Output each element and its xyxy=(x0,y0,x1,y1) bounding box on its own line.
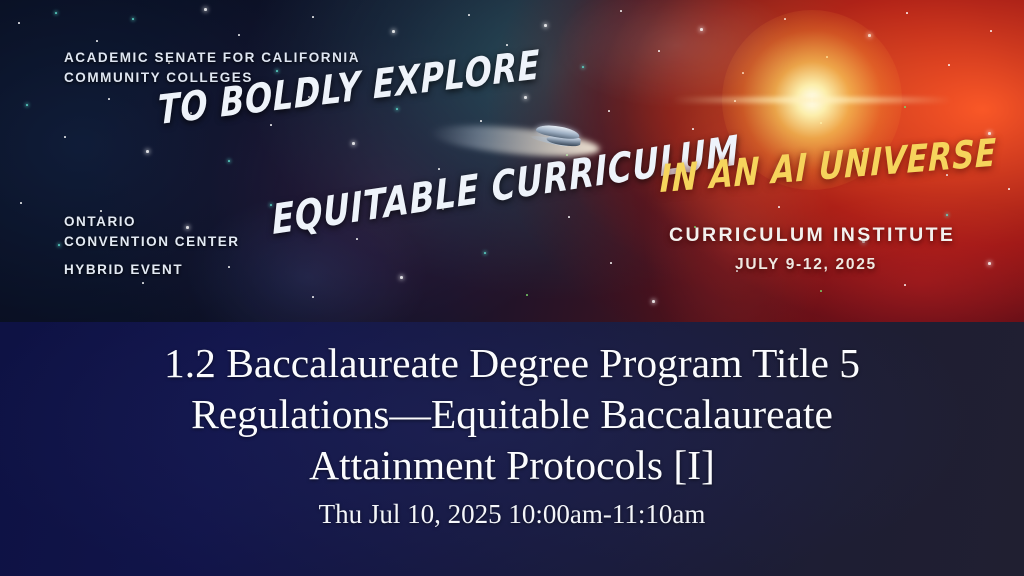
session-slide: ACADEMIC SENATE FOR CALIFORNIA COMMUNITY… xyxy=(0,0,1024,576)
session-title-line-2: Regulations—Equitable Baccalaureate xyxy=(0,389,1024,440)
venue-line-1: ONTARIO xyxy=(64,212,240,232)
institute-dates: JULY 9-12, 2025 xyxy=(735,256,877,274)
session-title-line-1: 1.2 Baccalaureate Degree Program Title 5 xyxy=(0,338,1024,389)
organization-line-1: ACADEMIC SENATE FOR CALIFORNIA xyxy=(64,48,360,68)
venue-info: ONTARIO CONVENTION CENTER HYBRID EVENT xyxy=(64,212,240,280)
venue-line-2: CONVENTION CENTER xyxy=(64,232,240,252)
session-title-line-3: Attainment Protocols [I] xyxy=(0,440,1024,491)
session-panel: 1.2 Baccalaureate Degree Program Title 5… xyxy=(0,322,1024,576)
venue-line-3: HYBRID EVENT xyxy=(64,260,240,280)
session-title: 1.2 Baccalaureate Degree Program Title 5… xyxy=(0,322,1024,491)
session-datetime: Thu Jul 10, 2025 10:00am-11:10am xyxy=(0,498,1024,531)
event-banner: ACADEMIC SENATE FOR CALIFORNIA COMMUNITY… xyxy=(0,0,1024,322)
institute-name: CURRICULUM INSTITUTE xyxy=(669,224,955,247)
